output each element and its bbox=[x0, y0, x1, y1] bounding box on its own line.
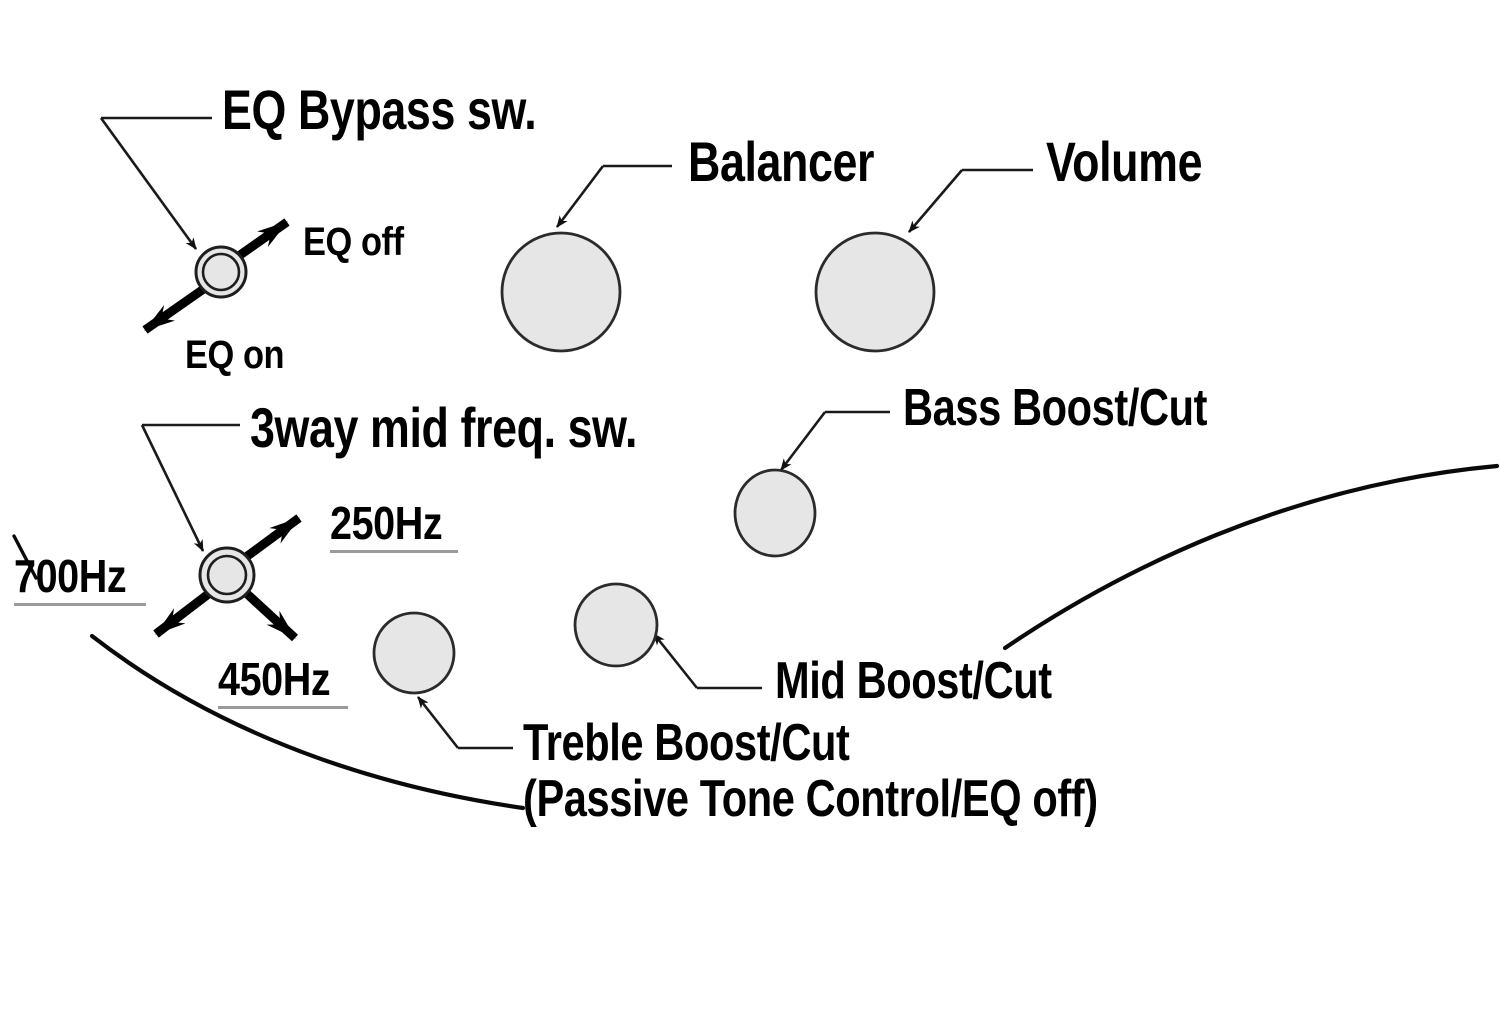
label-passive-tone-control: (Passive Tone Control/EQ off) bbox=[523, 773, 1098, 825]
label-eq-bypass-sw: EQ Bypass sw. bbox=[222, 82, 536, 138]
label-mid-boost-cut: Mid Boost/Cut bbox=[775, 655, 1052, 707]
arrow-450hz bbox=[245, 592, 295, 638]
arrow-eq-off bbox=[233, 222, 287, 260]
label-3way-mid-freq-sw: 3way mid freq. sw. bbox=[250, 400, 637, 456]
arrow-eq-on bbox=[145, 288, 205, 330]
treble-knob[interactable] bbox=[374, 613, 454, 693]
bass-knob[interactable] bbox=[735, 470, 815, 556]
label-volume: Volume bbox=[1046, 134, 1202, 190]
leader-volume-arrow bbox=[909, 170, 962, 232]
mid-knob[interactable] bbox=[575, 584, 657, 666]
body-curve-right bbox=[1005, 466, 1497, 648]
balancer-knob[interactable] bbox=[502, 233, 620, 351]
leader-treble-arrow bbox=[418, 697, 458, 748]
freq-450-underline bbox=[218, 706, 348, 709]
leader-bass-arrow bbox=[781, 412, 825, 470]
volume-knob[interactable] bbox=[816, 233, 934, 351]
controls-layer[interactable] bbox=[196, 233, 934, 693]
label-treble-boost-cut: Treble Boost/Cut bbox=[523, 717, 849, 769]
arrow-250hz bbox=[242, 518, 299, 560]
label-balancer: Balancer bbox=[688, 134, 874, 190]
mid-freq-switch[interactable] bbox=[200, 548, 254, 602]
leader-balancer-arrow bbox=[557, 166, 603, 227]
leader-eq-bypass-arrow bbox=[101, 118, 196, 249]
leader-mid-freq-sw-arrow bbox=[142, 425, 203, 551]
diagram-canvas: EQ Bypass sw. EQ off EQ on Balancer Volu… bbox=[0, 0, 1500, 1028]
eq-bypass-switch[interactable] bbox=[196, 247, 246, 297]
label-eq-on: EQ on bbox=[185, 335, 284, 375]
label-eq-off: EQ off bbox=[303, 222, 404, 262]
label-freq-250: 250Hz bbox=[330, 500, 442, 546]
label-freq-450: 450Hz bbox=[218, 656, 330, 702]
arrow-700hz bbox=[156, 592, 211, 634]
leader-mid-arrow bbox=[654, 634, 697, 688]
freq-700-underline bbox=[14, 603, 146, 606]
freq-250-underline bbox=[330, 550, 458, 553]
label-bass-boost-cut: Bass Boost/Cut bbox=[903, 382, 1207, 434]
label-freq-700: 700Hz bbox=[14, 553, 126, 599]
